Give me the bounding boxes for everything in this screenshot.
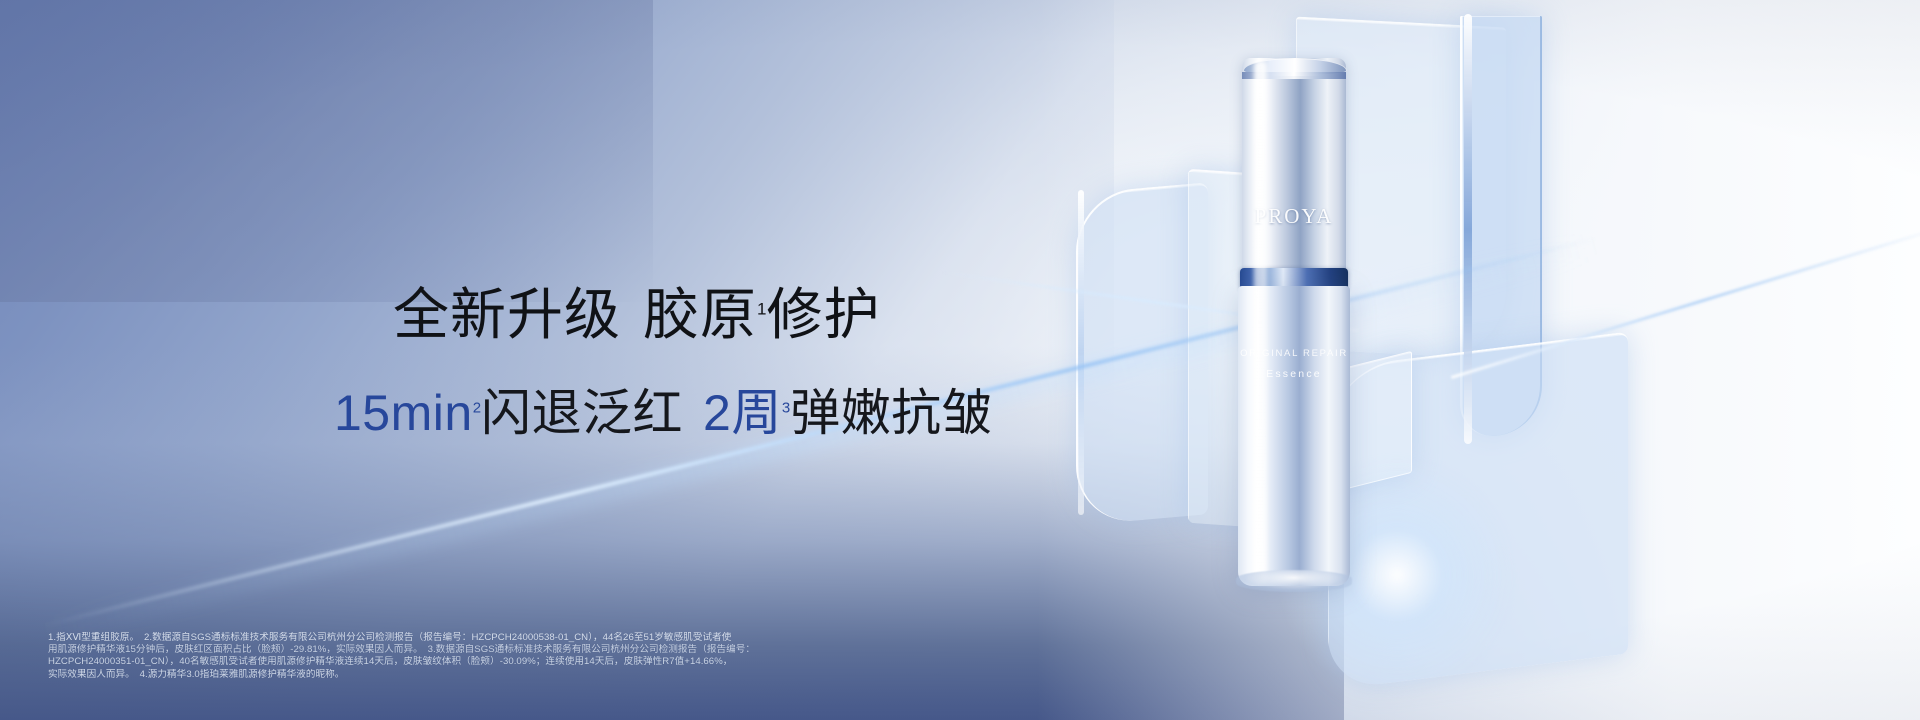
subtitle-footnote-marker-2: 2 xyxy=(473,399,481,416)
banner-stage: PROYA ORIGINAL REPAIR Essence 全新升级胶原1修护 … xyxy=(0,0,1920,720)
headline-part-3: 修护 xyxy=(766,283,880,346)
glass-edge-highlight-right xyxy=(1464,14,1472,444)
footnote-line-2: 用肌源修护精华液15分钟后，皮肤红区面积占比（脸颊）-29.81%，实际效果因人… xyxy=(48,644,1238,656)
subtitle-benefit-2: 弹嫩抗皱 xyxy=(790,385,992,441)
bottle-base-reflection xyxy=(1236,570,1352,592)
footnote-line-3: HZCPCH24000351-01_CN），40名敏感肌受试者使用肌源修护精华液… xyxy=(48,656,1238,668)
subtitle-metric-2: 2周 xyxy=(703,385,782,441)
subtitle-footnote-marker-3: 3 xyxy=(782,399,790,416)
glass-edge-highlight-left xyxy=(1078,190,1084,515)
footnote-line-1: 1.指ⅩⅥ型重组胶原。 2.数据源自SGS通标标准技术服务有限公司杭州分公司检测… xyxy=(48,632,1238,644)
page-subtitle: 15min2闪退泛红2周3弹嫩抗皱 xyxy=(334,388,992,438)
footnote-block: 1.指ⅩⅥ型重组胶原。 2.数据源自SGS通标标准技术服务有限公司杭州分公司检测… xyxy=(48,632,1238,681)
headline-part-2: 胶原 xyxy=(643,283,757,346)
product-bottle[interactable]: PROYA ORIGINAL REPAIR Essence xyxy=(1242,58,1346,528)
page-title: 全新升级胶原1修护 xyxy=(393,287,880,343)
headline-part-1: 全新升级 xyxy=(393,283,621,346)
subtitle-benefit-1: 闪退泛红 xyxy=(481,385,683,441)
copy-block: 全新升级胶原1修护 15min2闪退泛红2周3弹嫩抗皱 xyxy=(0,0,1060,720)
subtitle-metric-1: 15min xyxy=(334,385,473,441)
bottle-specular-highlight xyxy=(1254,60,1267,584)
footnote-line-4: 实际效果因人而异。 4.源力精华3.0指珀莱雅肌源修护精华液的昵称。 xyxy=(48,669,1238,681)
product-scene: PROYA ORIGINAL REPAIR Essence xyxy=(1060,0,1920,720)
